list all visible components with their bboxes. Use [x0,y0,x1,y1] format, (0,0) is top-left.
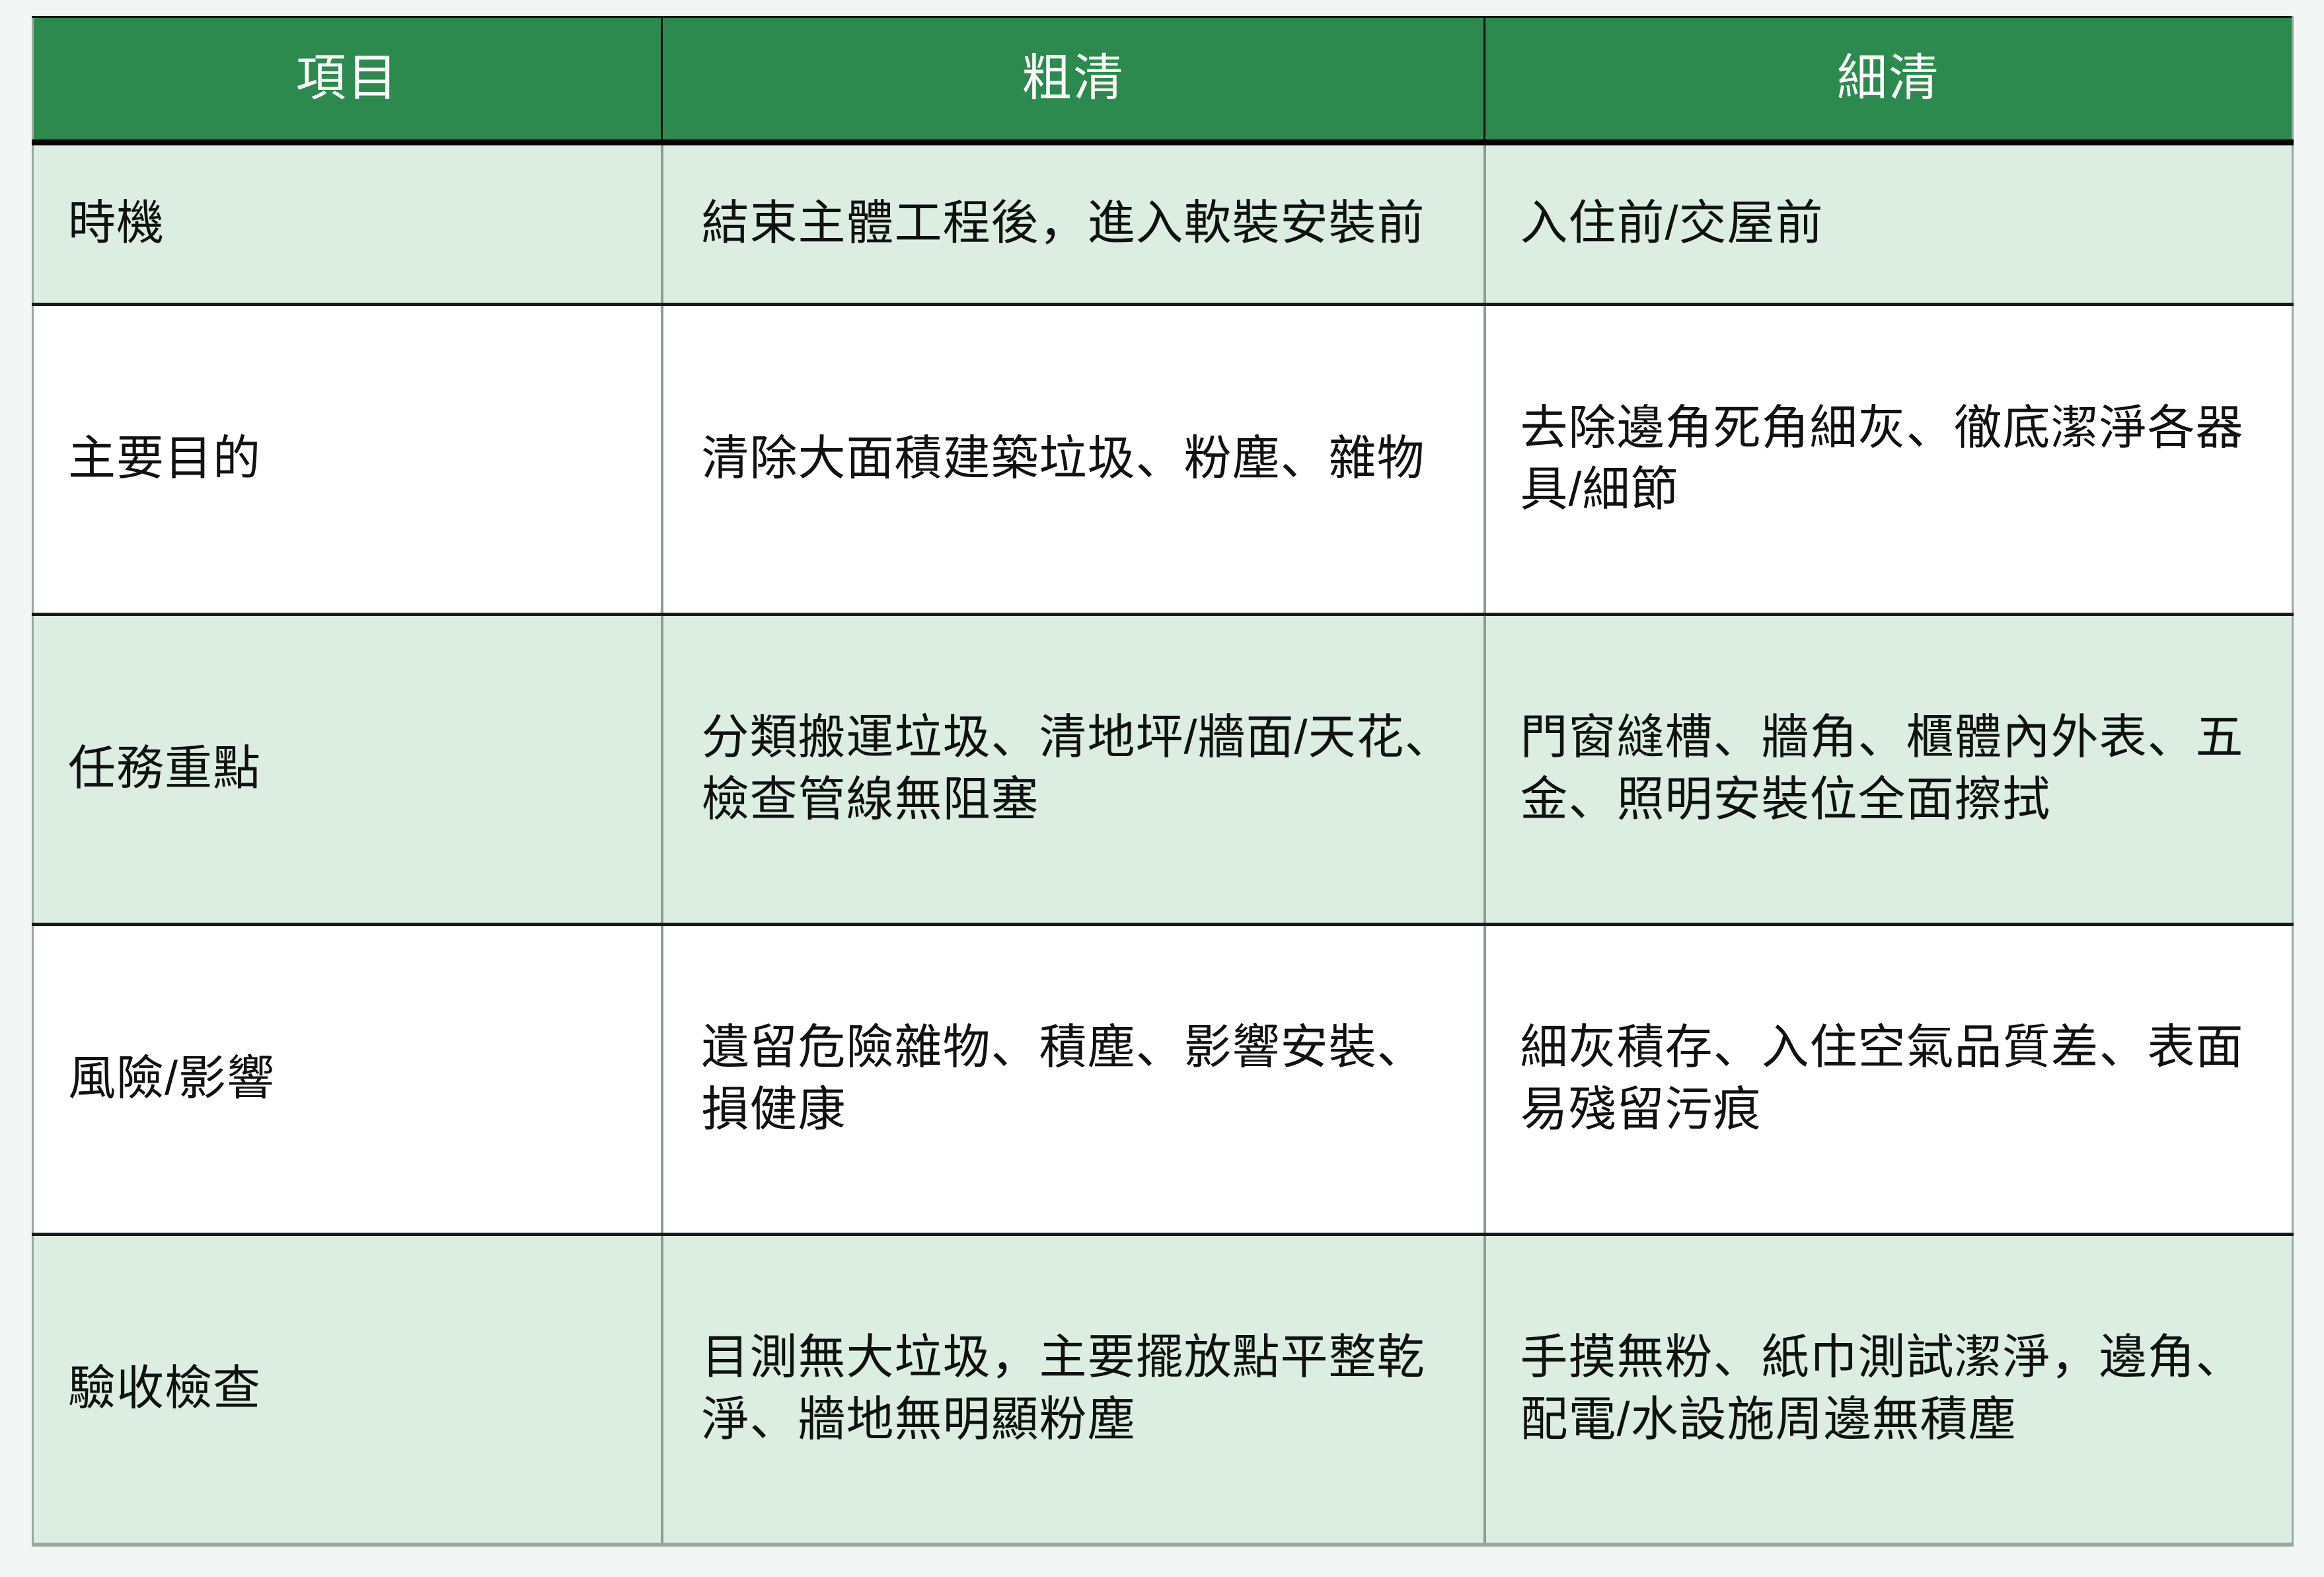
row-label-text: 時機 [68,193,630,255]
row-label-cell: 時機 [33,143,662,305]
row-label-text: 驗收檢查 [68,1358,630,1420]
rough-clean-text: 目測無大垃圾，主要擺放點平整乾淨、牆地無明顯粉塵 [702,1327,1461,1451]
rough-clean-cell: 結束主體工程後，進入軟裝安裝前 [662,143,1485,305]
table-body: 時機 結束主體工程後，進入軟裝安裝前 入住前/交屋前 主要目的 清除大面積建築垃… [33,143,2293,1545]
row-label-text: 主要目的 [68,428,630,490]
rough-clean-text: 清除大面積建築垃圾、粉塵、雜物 [702,428,1461,490]
comparison-table-container: 項目 粗清 細清 時機 結束主體工程後，進入軟裝安裝前 入住前/交屋前 主要目的 [32,16,2292,1547]
table-row: 驗收檢查 目測無大垃圾，主要擺放點平整乾淨、牆地無明顯粉塵 手摸無粉、紙巾測試潔… [33,1234,2293,1545]
rough-clean-text: 遺留危險雜物、積塵、影響安裝、損健康 [702,1017,1461,1141]
fine-clean-text: 細灰積存、入住空氣品質差、表面易殘留污痕 [1520,1017,2272,1141]
fine-clean-text: 門窗縫槽、牆角、櫃體內外表、五金、照明安裝位全面擦拭 [1520,707,2272,831]
fine-clean-text: 手摸無粉、紙巾測試潔淨，邊角、配電/水設施周邊無積塵 [1520,1327,2272,1451]
rough-clean-cell: 遺留危險雜物、積塵、影響安裝、損健康 [662,924,1485,1234]
column-header-item: 項目 [33,17,662,143]
table-row: 時機 結束主體工程後，進入軟裝安裝前 入住前/交屋前 [33,143,2293,305]
fine-clean-cell: 手摸無粉、紙巾測試潔淨，邊角、配電/水設施周邊無積塵 [1485,1234,2293,1545]
table-row: 主要目的 清除大面積建築垃圾、粉塵、雜物 去除邊角死角細灰、徹底潔淨各器具/細節 [33,305,2293,615]
comparison-table: 項目 粗清 細清 時機 結束主體工程後，進入軟裝安裝前 入住前/交屋前 主要目的 [32,16,2294,1547]
fine-clean-cell: 去除邊角死角細灰、徹底潔淨各器具/細節 [1485,305,2293,615]
fine-clean-cell: 門窗縫槽、牆角、櫃體內外表、五金、照明安裝位全面擦拭 [1485,615,2293,925]
rough-clean-text: 結束主體工程後，進入軟裝安裝前 [702,193,1461,255]
column-header-fine: 細清 [1485,17,2293,143]
table-row: 風險/影響 遺留危險雜物、積塵、影響安裝、損健康 細灰積存、入住空氣品質差、表面… [33,924,2293,1234]
rough-clean-cell: 清除大面積建築垃圾、粉塵、雜物 [662,305,1485,615]
row-label-cell: 主要目的 [33,305,662,615]
fine-clean-text: 去除邊角死角細灰、徹底潔淨各器具/細節 [1520,398,2272,521]
row-label-cell: 風險/影響 [33,924,662,1234]
row-label-text: 風險/影響 [68,1048,630,1110]
rough-clean-cell: 目測無大垃圾，主要擺放點平整乾淨、牆地無明顯粉塵 [662,1234,1485,1545]
rough-clean-text: 分類搬運垃圾、清地坪/牆面/天花、檢查管線無阻塞 [702,707,1461,831]
column-header-rough: 粗清 [662,17,1485,143]
row-label-text: 任務重點 [68,738,630,800]
row-label-cell: 任務重點 [33,615,662,925]
fine-clean-text: 入住前/交屋前 [1520,193,2272,255]
rough-clean-cell: 分類搬運垃圾、清地坪/牆面/天花、檢查管線無阻塞 [662,615,1485,925]
fine-clean-cell: 細灰積存、入住空氣品質差、表面易殘留污痕 [1485,924,2293,1234]
row-label-cell: 驗收檢查 [33,1234,662,1545]
table-header-row: 項目 粗清 細清 [33,17,2293,143]
table-head: 項目 粗清 細清 [33,17,2293,143]
table-row: 任務重點 分類搬運垃圾、清地坪/牆面/天花、檢查管線無阻塞 門窗縫槽、牆角、櫃體… [33,615,2293,925]
fine-clean-cell: 入住前/交屋前 [1485,143,2293,305]
